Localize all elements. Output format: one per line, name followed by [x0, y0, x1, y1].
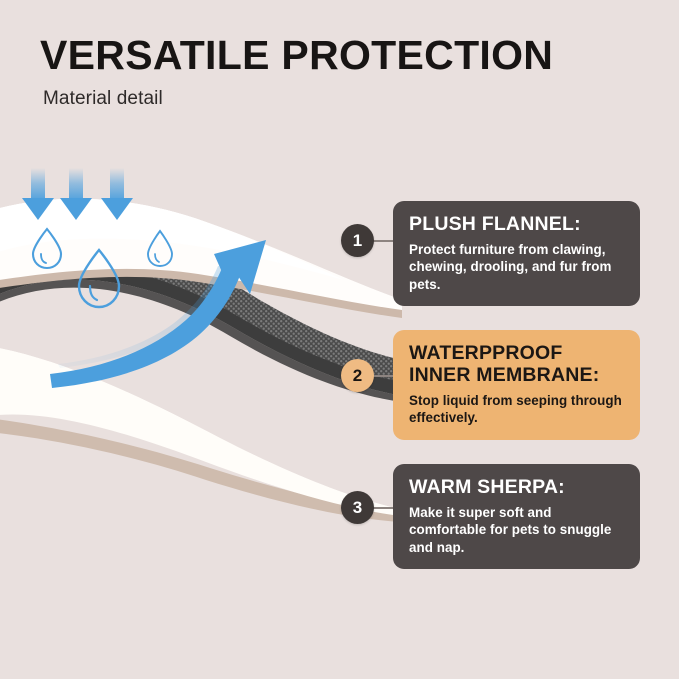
infographic-canvas: VERSATILE PROTECTION Material detail [0, 0, 679, 679]
callout-badge-3[interactable]: 3 [341, 491, 374, 524]
header: VERSATILE PROTECTION Material detail [40, 34, 600, 110]
callout-body-3: Make it super soft and comfortable for p… [409, 504, 626, 556]
page-subtitle: Material detail [43, 88, 600, 110]
callout-badge-1[interactable]: 1 [341, 224, 374, 257]
callout-body-1: Protect furniture from clawing, chewing,… [409, 241, 626, 293]
callout-card-waterproof-membrane[interactable]: WATERPPROOF INNER MEMBRANE: Stop liquid … [393, 330, 640, 440]
incoming-liquid-arrows [22, 168, 133, 220]
callout-body-2: Stop liquid from seeping through effecti… [409, 392, 626, 427]
page-title: VERSATILE PROTECTION [40, 34, 600, 77]
callout-title-3: WARM SHERPA: [409, 476, 626, 498]
callout-title-1: PLUSH FLANNEL: [409, 213, 626, 235]
callout-card-warm-sherpa[interactable]: WARM SHERPA: Make it super soft and comf… [393, 464, 640, 569]
callout-badge-2[interactable]: 2 [341, 359, 374, 392]
callout-title-2: WATERPPROOF INNER MEMBRANE: [409, 342, 626, 386]
callout-card-plush-flannel[interactable]: PLUSH FLANNEL: Protect furniture from cl… [393, 201, 640, 306]
